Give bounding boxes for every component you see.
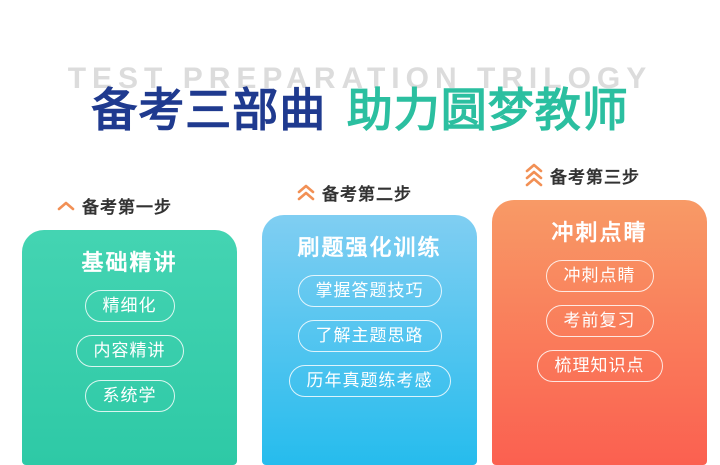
step-card-3-title: 冲刺点睛 — [551, 218, 647, 248]
pill-item[interactable]: 考前复习 — [546, 305, 654, 337]
page-title-primary: 备考三部曲 — [91, 84, 326, 136]
page-header: TEST PREPARATION TRILOGY 备考三部曲 助力圆梦教师 — [0, 0, 720, 150]
step-card-2[interactable]: 刷题强化训练 掌握答题技巧 了解主题思路 历年真题练考感 — [262, 215, 477, 465]
step-card-1-title: 基础精讲 — [81, 248, 177, 278]
chevron-up-triple-icon — [525, 163, 543, 188]
pill-item[interactable]: 系统学 — [85, 380, 175, 412]
pill-item[interactable]: 冲刺点睛 — [546, 260, 654, 292]
step-label-3-text: 备考第三步 — [550, 163, 640, 188]
chevron-up-icon — [57, 201, 75, 211]
step-label-1: 备考第一步 — [57, 193, 172, 218]
page-title-secondary: 助力圆梦教师 — [347, 84, 629, 136]
step-card-2-title: 刷题强化训练 — [297, 233, 441, 263]
pill-item[interactable]: 历年真题练考感 — [289, 365, 451, 397]
pill-item[interactable]: 掌握答题技巧 — [298, 275, 442, 307]
step-label-1-text: 备考第一步 — [82, 193, 172, 218]
step-label-3: 备考第三步 — [525, 163, 640, 188]
step-card-3[interactable]: 冲刺点睛 冲刺点睛 考前复习 梳理知识点 — [492, 200, 707, 465]
pill-item[interactable]: 内容精讲 — [76, 335, 184, 367]
step-card-1-pill-list: 精细化 内容精讲 系统学 — [22, 290, 237, 412]
step-card-3-pill-list: 冲刺点睛 考前复习 梳理知识点 — [492, 260, 707, 382]
pill-item[interactable]: 了解主题思路 — [298, 320, 442, 352]
chevron-up-double-icon — [297, 184, 315, 202]
pill-item[interactable]: 精细化 — [85, 290, 175, 322]
pill-item[interactable]: 梳理知识点 — [537, 350, 663, 382]
step-card-1[interactable]: 基础精讲 精细化 内容精讲 系统学 — [22, 230, 237, 465]
page-title: 备考三部曲 助力圆梦教师 — [0, 83, 720, 137]
step-card-2-pill-list: 掌握答题技巧 了解主题思路 历年真题练考感 — [262, 275, 477, 397]
step-label-2: 备考第二步 — [297, 180, 412, 205]
step-label-2-text: 备考第二步 — [322, 180, 412, 205]
